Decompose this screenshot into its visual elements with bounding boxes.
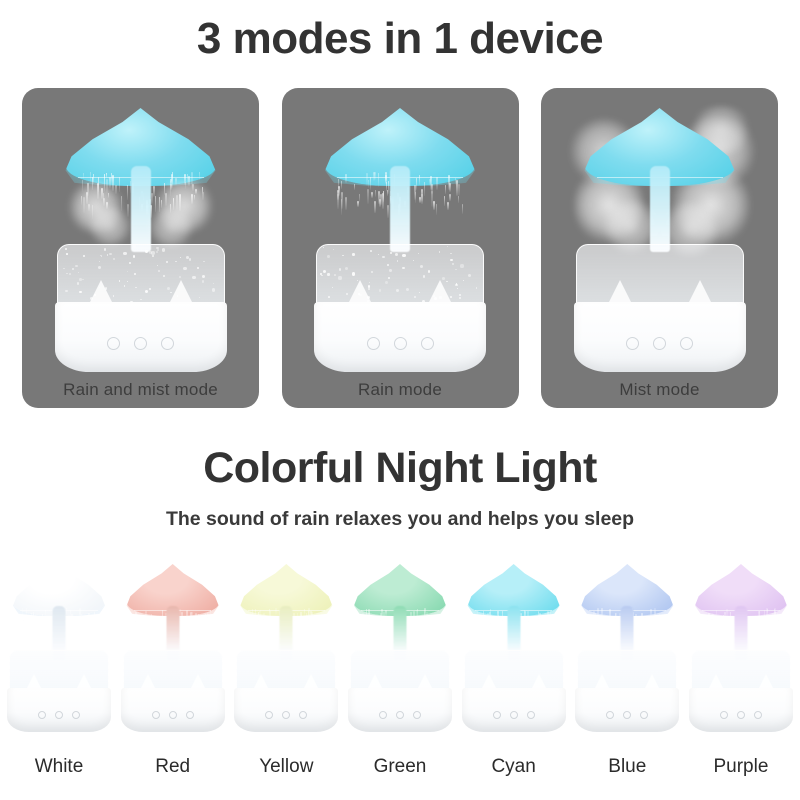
mist-icon[interactable] — [640, 711, 648, 719]
night-light-subtitle: The sound of rain relaxes you and helps … — [0, 508, 800, 531]
tank-clear-window — [350, 650, 450, 690]
power-icon[interactable] — [379, 711, 387, 719]
mist-plume — [87, 206, 133, 246]
power-icon[interactable] — [626, 337, 639, 350]
control-button-group — [574, 337, 746, 350]
mode-panel-3[interactable]: Mist mode — [541, 88, 778, 408]
base-housing — [575, 688, 679, 732]
light-icon[interactable] — [55, 711, 63, 719]
color-label: Cyan — [461, 756, 567, 778]
color-label: Green — [347, 756, 453, 778]
power-icon[interactable] — [265, 711, 273, 719]
color-label: Yellow — [233, 756, 339, 778]
humidifier-illustration — [123, 562, 223, 732]
tank-clear-window — [57, 244, 225, 306]
power-icon[interactable] — [720, 711, 728, 719]
humidifier-illustration — [464, 562, 564, 732]
water-column — [390, 166, 410, 252]
water-tank — [577, 650, 677, 732]
humidifier-illustration — [236, 562, 336, 732]
base-housing — [55, 302, 227, 372]
water-tank — [9, 650, 109, 732]
night-light-title: Colorful Night Light — [0, 444, 800, 493]
water-tank — [576, 244, 744, 372]
humidifier-illustration — [691, 562, 791, 732]
color-variant-white[interactable]: White — [6, 562, 112, 800]
light-icon[interactable] — [396, 711, 404, 719]
water-tank — [57, 244, 225, 372]
humidifier-illustration — [9, 562, 109, 732]
color-variant-cyan[interactable]: Cyan — [461, 562, 567, 800]
color-variant-yellow[interactable]: Yellow — [233, 562, 339, 800]
control-button-group — [234, 711, 338, 719]
mode-label: Mist mode — [541, 380, 778, 400]
humidifier-illustration — [350, 562, 450, 732]
control-button-group — [689, 711, 793, 719]
base-housing — [121, 688, 225, 732]
base-housing — [348, 688, 452, 732]
water-tank — [316, 244, 484, 372]
humidifier-illustration — [41, 102, 241, 372]
mode-label: Rain and mist mode — [22, 380, 259, 400]
base-housing — [314, 302, 486, 372]
mode-panel-2[interactable]: Rain mode — [282, 88, 519, 408]
mist-icon[interactable] — [754, 711, 762, 719]
color-variants-row: WhiteRedYellowGreenCyanBluePurple — [6, 562, 794, 800]
mist-icon[interactable] — [680, 337, 693, 350]
mist-icon[interactable] — [72, 711, 80, 719]
color-variant-red[interactable]: Red — [120, 562, 226, 800]
water-tank — [236, 650, 336, 732]
power-icon[interactable] — [38, 711, 46, 719]
color-variant-blue[interactable]: Blue — [574, 562, 680, 800]
control-button-group — [7, 711, 111, 719]
tank-clear-window — [236, 650, 336, 690]
control-button-group — [462, 711, 566, 719]
water-tank — [123, 650, 223, 732]
light-icon[interactable] — [737, 711, 745, 719]
humidifier-illustration — [560, 102, 760, 372]
light-icon[interactable] — [134, 337, 147, 350]
tank-clear-window — [691, 650, 791, 690]
modes-row: Rain and mist modeRain modeMist mode — [22, 88, 778, 408]
humidifier-illustration — [577, 562, 677, 732]
control-button-group — [55, 337, 227, 350]
base-housing — [462, 688, 566, 732]
mode-label: Rain mode — [282, 380, 519, 400]
tank-clear-window — [9, 650, 109, 690]
control-button-group — [575, 711, 679, 719]
light-icon[interactable] — [510, 711, 518, 719]
humidifier-illustration — [300, 102, 500, 372]
power-icon[interactable] — [152, 711, 160, 719]
page-title: 3 modes in 1 device — [0, 14, 800, 64]
control-button-group — [348, 711, 452, 719]
base-housing — [7, 688, 111, 732]
mist-icon[interactable] — [413, 711, 421, 719]
light-icon[interactable] — [623, 711, 631, 719]
control-button-group — [314, 337, 486, 350]
tank-clear-window — [316, 244, 484, 306]
color-label: Purple — [688, 756, 794, 778]
mode-panel-1[interactable]: Rain and mist mode — [22, 88, 259, 408]
light-icon[interactable] — [169, 711, 177, 719]
power-icon[interactable] — [493, 711, 501, 719]
base-housing — [689, 688, 793, 732]
tank-clear-window — [464, 650, 564, 690]
water-tank — [350, 650, 450, 732]
water-tank — [691, 650, 791, 732]
water-tank — [464, 650, 564, 732]
mist-icon[interactable] — [527, 711, 535, 719]
color-label: White — [6, 756, 112, 778]
base-housing — [234, 688, 338, 732]
mist-icon[interactable] — [186, 711, 194, 719]
color-variant-green[interactable]: Green — [347, 562, 453, 800]
color-label: Red — [120, 756, 226, 778]
water-column — [650, 166, 670, 252]
control-button-group — [121, 711, 225, 719]
light-icon[interactable] — [653, 337, 666, 350]
color-label: Blue — [574, 756, 680, 778]
mist-icon[interactable] — [299, 711, 307, 719]
power-icon[interactable] — [606, 711, 614, 719]
light-icon[interactable] — [282, 711, 290, 719]
power-icon[interactable] — [367, 337, 380, 350]
tank-clear-window — [577, 650, 677, 690]
light-icon[interactable] — [394, 337, 407, 350]
tank-clear-window — [576, 244, 744, 306]
water-column — [131, 166, 151, 252]
power-icon[interactable] — [107, 337, 120, 350]
mist-plume — [147, 206, 195, 248]
tank-clear-window — [123, 650, 223, 690]
color-variant-purple[interactable]: Purple — [688, 562, 794, 800]
mist-icon[interactable] — [421, 337, 434, 350]
base-housing — [574, 302, 746, 372]
mist-icon[interactable] — [161, 337, 174, 350]
